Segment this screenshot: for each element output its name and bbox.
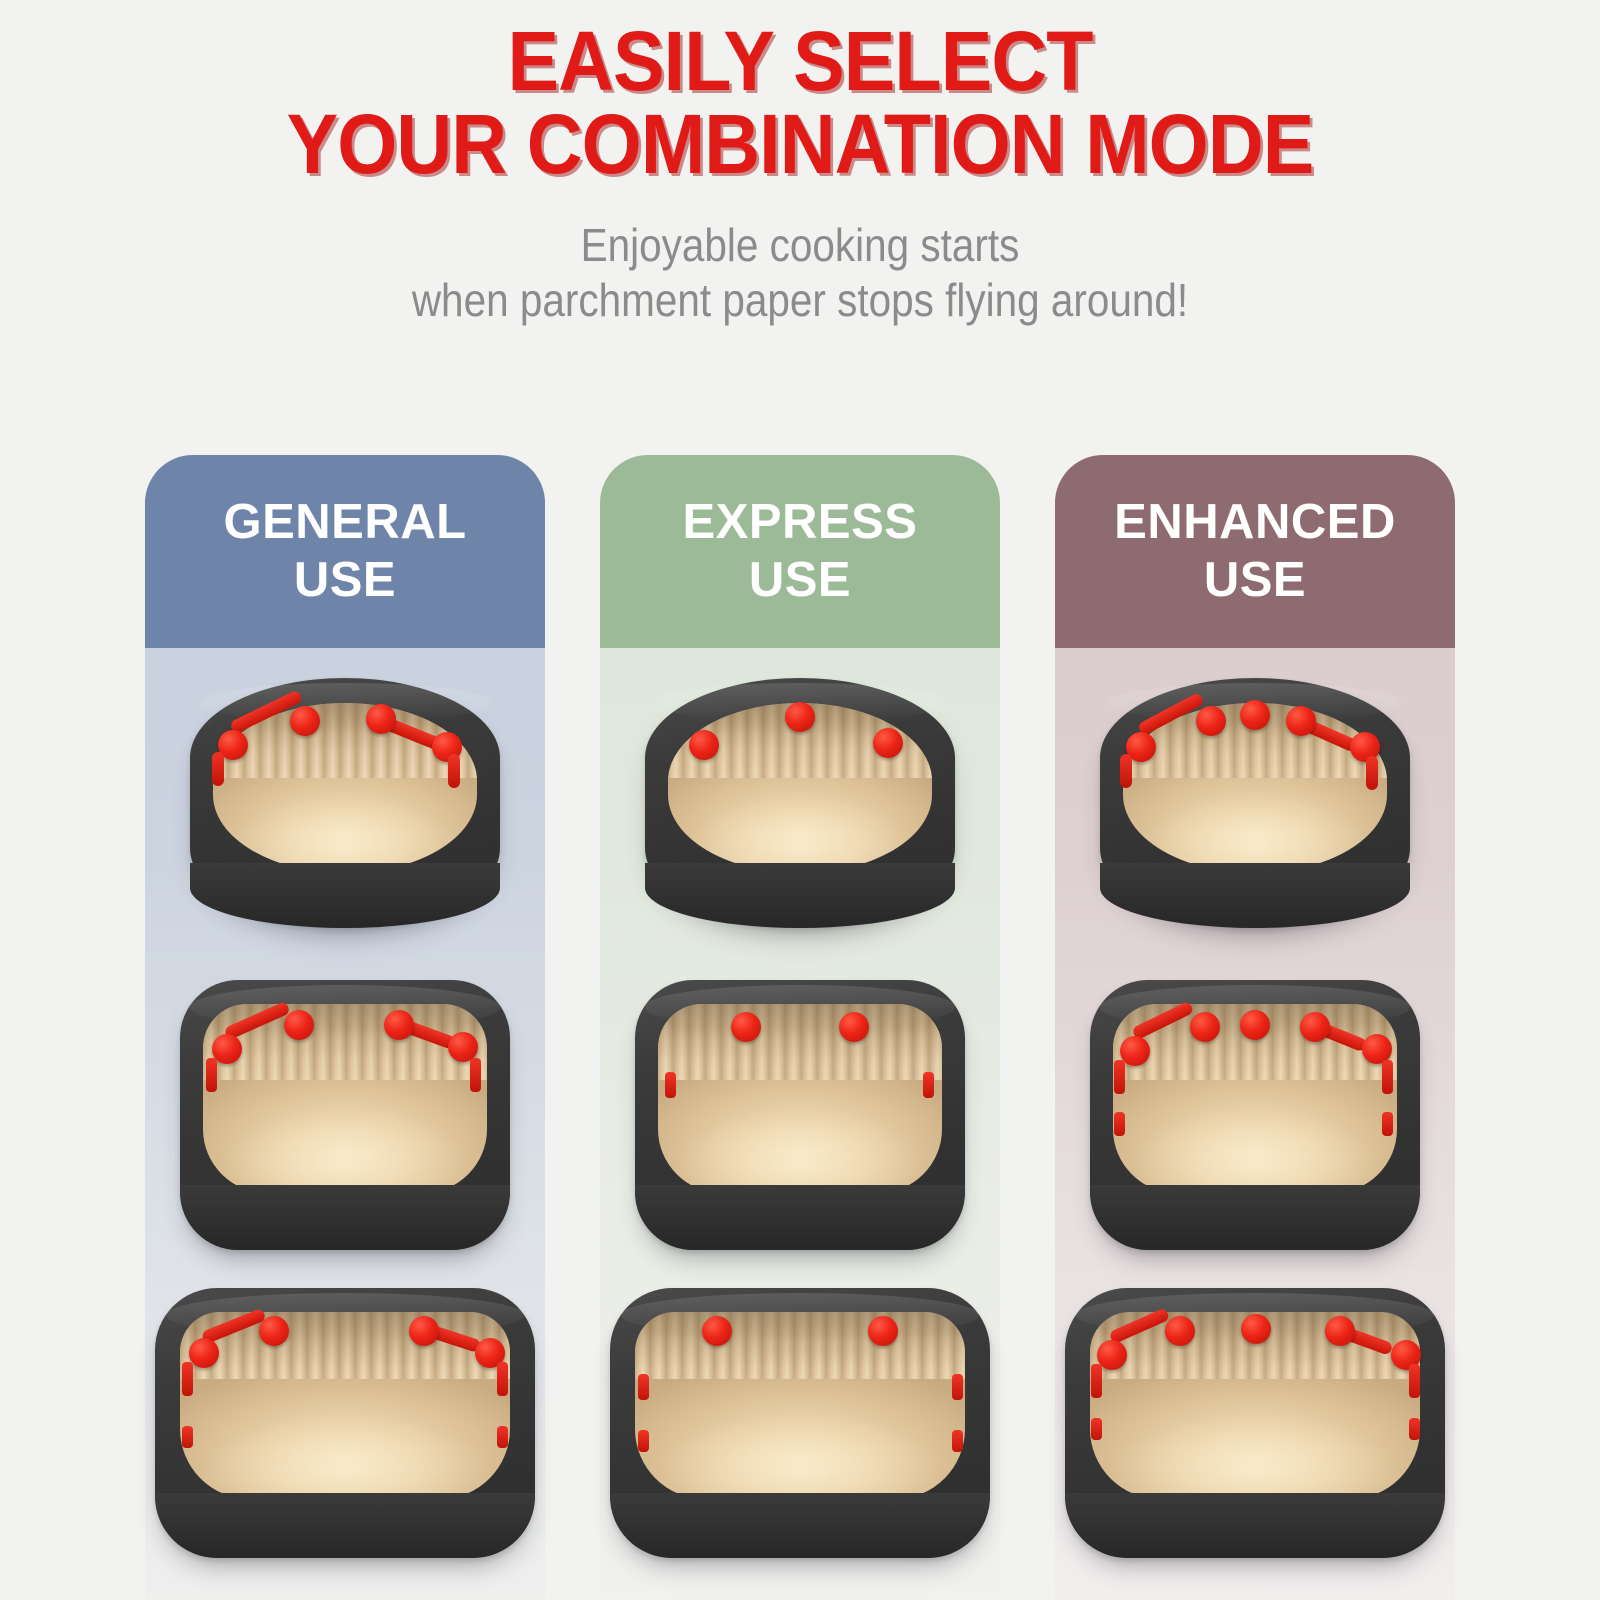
product-round-enhanced[interactable] xyxy=(1100,678,1410,928)
column-title-enhanced-line1: ENHANCED xyxy=(1114,494,1396,552)
parchment-liner-cavity xyxy=(213,703,477,873)
mode-column-enhanced[interactable]: ENHANCED USE xyxy=(1055,455,1455,1600)
product-stack-express xyxy=(600,648,1000,1600)
product-round-express[interactable] xyxy=(645,678,955,928)
subheadline-line-1: Enjoyable cooking starts xyxy=(96,218,1504,272)
mode-column-express[interactable]: EXPRESS USE xyxy=(600,455,1000,1600)
column-title-enhanced-line2: USE xyxy=(1204,552,1306,610)
column-header-general: GENERAL USE xyxy=(145,455,545,648)
basket-front-rim xyxy=(1090,1185,1420,1250)
product-rect-general[interactable] xyxy=(155,1288,535,1558)
column-title-express-line2: USE xyxy=(749,552,851,610)
cavity-shading xyxy=(180,1312,511,1498)
basket-front-rim xyxy=(190,863,500,928)
column-title-general-line2: USE xyxy=(294,552,396,610)
parchment-liner-cavity xyxy=(658,1004,942,1193)
product-rect-express[interactable] xyxy=(610,1288,990,1558)
product-round-general[interactable] xyxy=(190,678,500,928)
basket-front-rim xyxy=(635,1185,965,1250)
headline-line-1: EASILY SELECT xyxy=(507,14,1092,108)
product-rect-enhanced[interactable] xyxy=(1065,1288,1445,1558)
column-title-express-line1: EXPRESS xyxy=(683,494,918,552)
mode-column-general[interactable]: GENERAL USE xyxy=(145,455,545,1600)
subheadline-line-2: when parchment paper stops flying around… xyxy=(96,273,1504,327)
basket-front-rim xyxy=(1100,863,1410,928)
parchment-liner-cavity xyxy=(203,1004,487,1193)
basket-front-rim xyxy=(1065,1493,1445,1558)
cavity-shading xyxy=(1123,703,1387,873)
cavity-shading xyxy=(203,1004,487,1193)
product-square-general[interactable] xyxy=(180,980,510,1250)
basket-front-rim xyxy=(180,1185,510,1250)
column-header-enhanced: ENHANCED USE xyxy=(1055,455,1455,648)
basket-front-rim xyxy=(610,1493,990,1558)
column-title-general-line1: GENERAL xyxy=(223,494,466,552)
product-stack-general xyxy=(145,648,545,1600)
basket-front-rim xyxy=(645,863,955,928)
basket-front-rim xyxy=(155,1493,535,1558)
cavity-shading xyxy=(635,1312,966,1498)
product-square-enhanced[interactable] xyxy=(1090,980,1420,1250)
cavity-shading xyxy=(213,703,477,873)
cavity-shading xyxy=(1090,1312,1421,1498)
parchment-liner-cavity xyxy=(1090,1312,1421,1498)
product-stack-enhanced xyxy=(1055,648,1455,1600)
cavity-shading xyxy=(658,1004,942,1193)
parchment-liner-cavity xyxy=(180,1312,511,1498)
page-subheadline: Enjoyable cooking starts when parchment … xyxy=(96,218,1504,327)
headline-line-2: YOUR COMBINATION MODE xyxy=(64,103,1536,186)
parchment-liner-cavity xyxy=(1113,1004,1397,1193)
product-square-express[interactable] xyxy=(635,980,965,1250)
parchment-liner-cavity xyxy=(1123,703,1387,873)
parchment-liner-cavity xyxy=(668,703,932,873)
parchment-liner-cavity xyxy=(635,1312,966,1498)
page-headline: EASILY SELECT YOUR COMBINATION MODE xyxy=(64,0,1536,186)
cavity-shading xyxy=(668,703,932,873)
column-header-express: EXPRESS USE xyxy=(600,455,1000,648)
cavity-shading xyxy=(1113,1004,1397,1193)
mode-columns: GENERAL USE xyxy=(0,455,1600,1600)
